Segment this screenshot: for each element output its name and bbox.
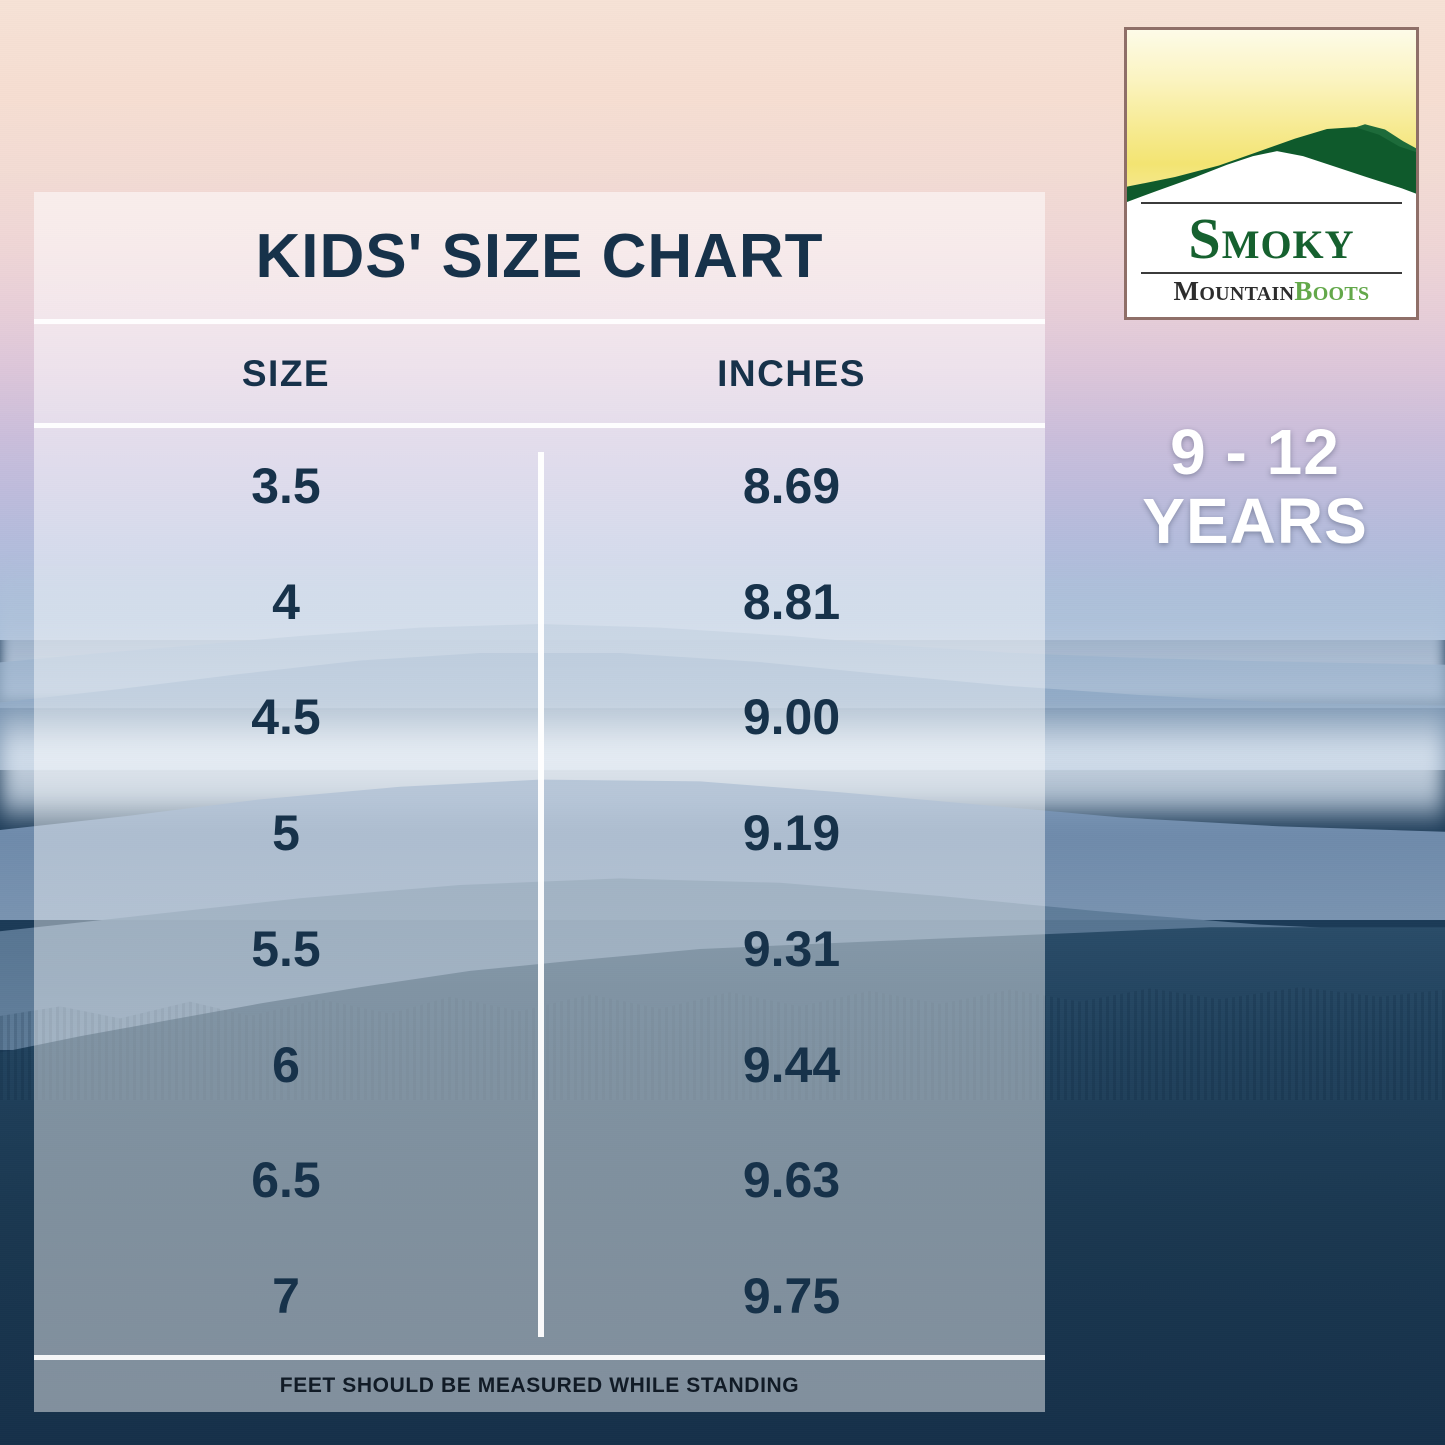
logo-mountain-sunrise-icon [1127,30,1416,202]
size-chart-panel: KIDS' SIZE CHART SIZE INCHES 3.5 8.69 4 … [34,192,1045,1412]
cell-inches: 8.81 [538,573,1045,631]
logo-boots-cap: B [1294,276,1312,306]
cell-inches: 9.00 [538,688,1045,746]
table-row: 5.5 9.31 [34,891,1045,1007]
column-header-size: SIZE [34,353,538,395]
logo-mountain-word: MOUNTAIN [1174,276,1295,306]
cell-size: 6.5 [34,1151,538,1209]
cell-inches: 9.31 [538,920,1045,978]
table-row: 3.5 8.69 [34,428,1045,544]
table-header-row: SIZE INCHES [34,324,1045,423]
cell-size: 6 [34,1036,538,1094]
table-row: 7 9.75 [34,1238,1045,1354]
logo-smoky-cap: S [1188,206,1221,271]
cell-inches: 9.63 [538,1151,1045,1209]
table-row: 6.5 9.63 [34,1123,1045,1239]
cell-inches: 8.69 [538,457,1045,515]
logo-wordmark-smoky: SMOKY [1127,204,1416,270]
page-title: KIDS' SIZE CHART [34,192,1045,321]
table-row: 4.5 9.00 [34,660,1045,776]
table-row: 5 9.19 [34,775,1045,891]
cell-size: 4.5 [34,688,538,746]
cell-size: 7 [34,1267,538,1325]
logo-mountain-rest: OUNTAIN [1199,283,1294,305]
table-body: 3.5 8.69 4 8.81 4.5 9.00 5 9.19 5.5 9.31… [34,428,1045,1354]
table-row: 6 9.44 [34,1007,1045,1123]
logo-boots-word: BOOTS [1294,276,1369,306]
column-header-inches: INCHES [538,353,1045,395]
cell-size: 5.5 [34,920,538,978]
cell-inches: 9.19 [538,804,1045,862]
brand-logo: SMOKY MOUNTAINBOOTS [1124,27,1419,320]
footnote-text: FEET SHOULD BE MEASURED WHILE STANDING [280,1374,799,1398]
logo-boots-rest: OOTS [1313,283,1370,305]
cell-size: 5 [34,804,538,862]
cell-inches: 9.75 [538,1267,1045,1325]
table-row: 4 8.81 [34,544,1045,660]
logo-mountain-cap: M [1174,276,1200,306]
footnote: FEET SHOULD BE MEASURED WHILE STANDING [34,1360,1045,1412]
cell-size: 4 [34,573,538,631]
logo-smoky-rest: MOKY [1222,222,1355,267]
age-range-line2: YEARS [1090,487,1420,556]
age-range-line1: 9 - 12 [1090,418,1420,487]
cell-size: 3.5 [34,457,538,515]
age-range-badge: 9 - 12 YEARS [1090,418,1420,556]
infographic-canvas: KIDS' SIZE CHART SIZE INCHES 3.5 8.69 4 … [0,0,1445,1445]
page-title-text: KIDS' SIZE CHART [255,221,823,292]
logo-subwordmark: MOUNTAINBOOTS [1127,274,1416,305]
cell-inches: 9.44 [538,1036,1045,1094]
